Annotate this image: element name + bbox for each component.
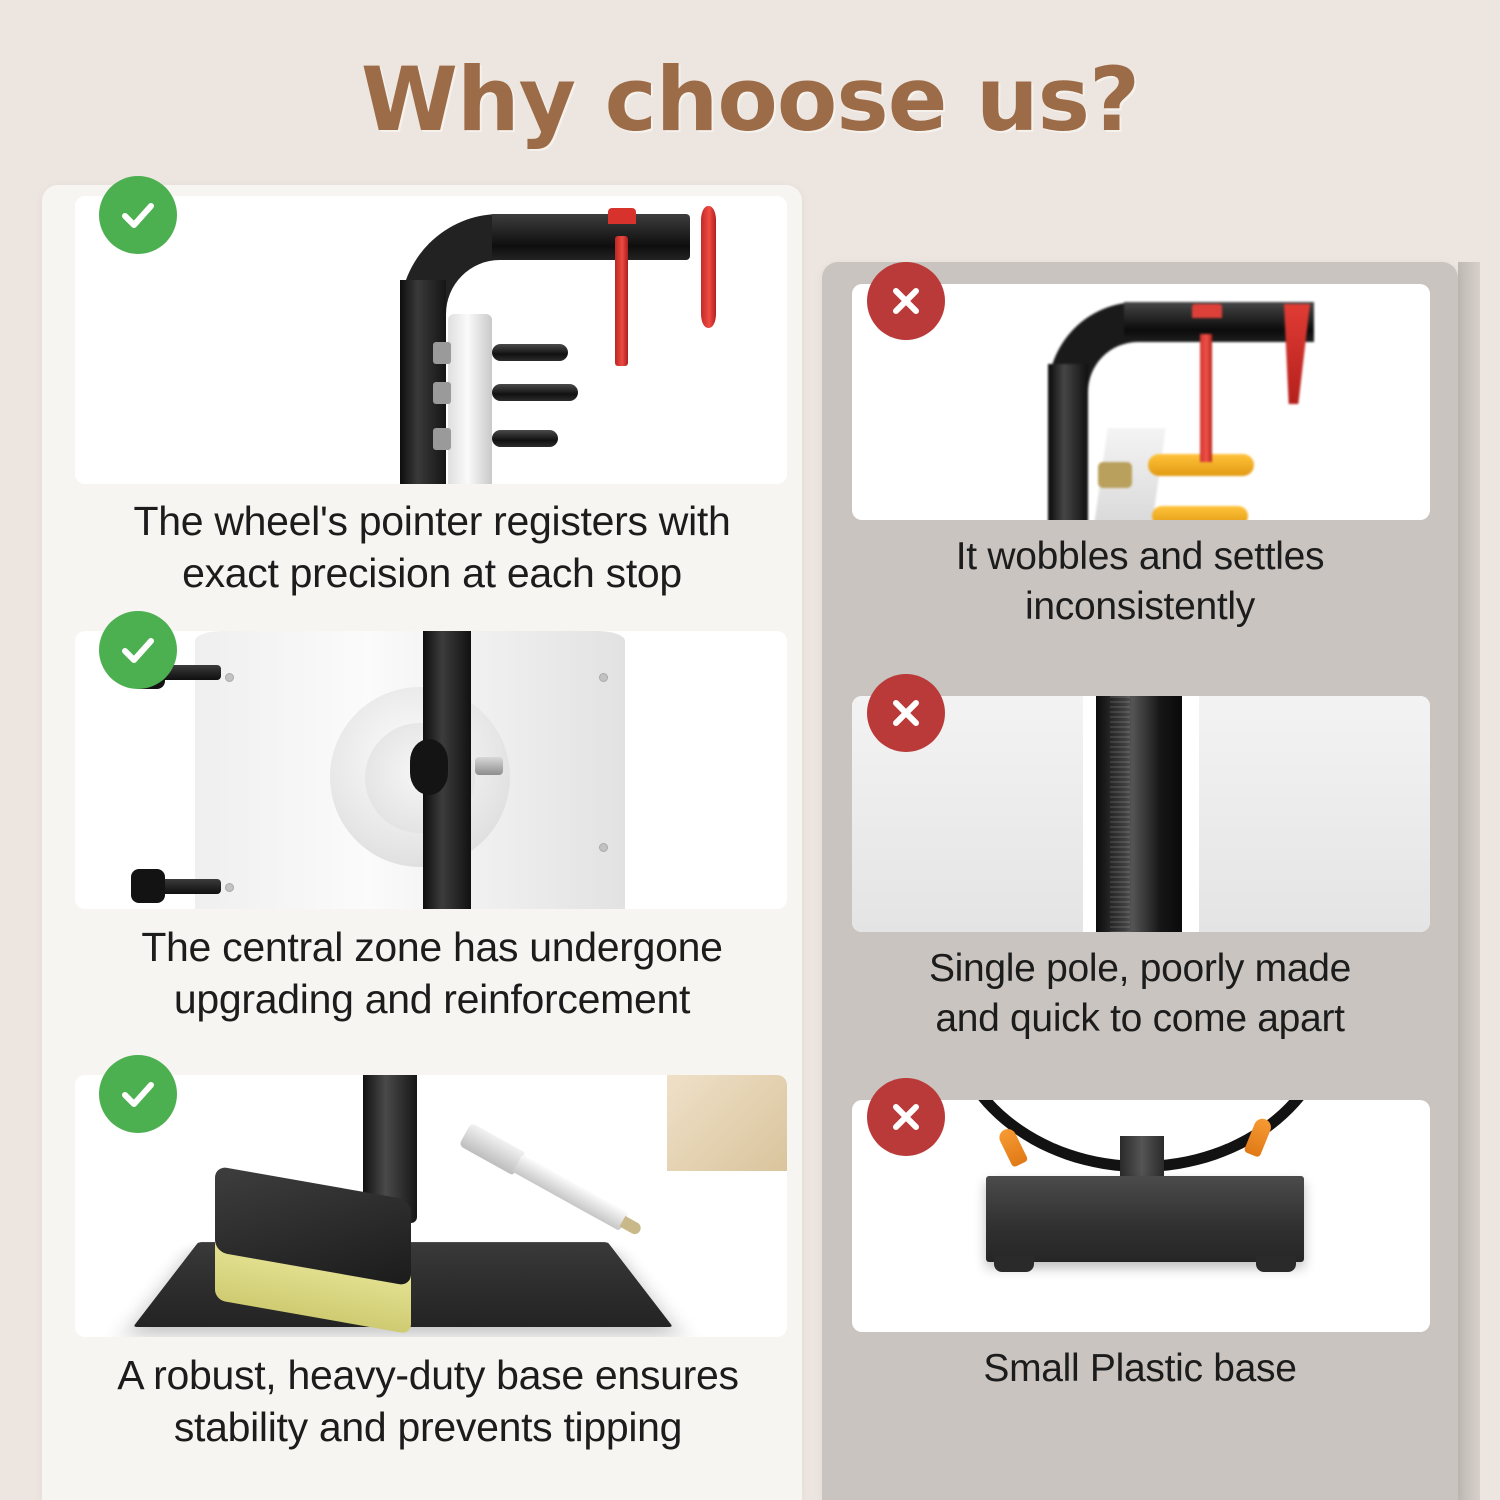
pin-rod-shape	[492, 430, 558, 447]
check-circle-icon	[99, 176, 177, 254]
con-item-3: Small Plastic base	[822, 1086, 1458, 1486]
pin-rod-shape	[492, 344, 568, 361]
con-caption-3: Small Plastic base	[832, 1344, 1448, 1394]
red-pointer-stem-shape	[615, 236, 628, 366]
x-circle-icon	[867, 674, 945, 752]
red-pointer-flag-shape	[701, 206, 716, 328]
page-title: Why choose us?	[0, 48, 1500, 151]
bolt-shape	[433, 342, 451, 364]
pro-item-2: The central zone has undergone upgrading…	[42, 623, 802, 1045]
pro-caption-3: A robust, heavy-duty base ensures stabil…	[54, 1349, 802, 1454]
heavy-duty-base-illustration	[75, 1075, 787, 1337]
x-circle-icon	[867, 262, 945, 340]
red-cap-shape	[608, 208, 636, 224]
white-bracket-plate-shape	[448, 314, 492, 484]
cons-panel: It wobbles and settles inconsistently Si…	[822, 262, 1458, 1500]
knob-stem-shape	[161, 879, 221, 894]
wheel-hub-illustration	[75, 631, 787, 909]
pro-caption-1: The wheel's pointer registers with exact…	[62, 495, 802, 600]
red-cap-shape	[1192, 304, 1222, 318]
pointer-bracket-illustration	[75, 196, 787, 484]
rivet-shape	[599, 673, 608, 682]
check-circle-icon	[99, 1055, 177, 1133]
clamp-shape	[1098, 462, 1132, 488]
rivet-shape	[599, 843, 608, 852]
page-header: Why choose us?	[0, 48, 1500, 151]
locking-screw-shape	[475, 757, 503, 775]
center-boss-shape	[410, 739, 448, 795]
con-caption-2: Single pole, poorly made and quick to co…	[832, 944, 1448, 1044]
red-pointer-stem-shape	[1200, 334, 1212, 462]
pointer-bracket-closeup-image	[75, 196, 787, 484]
marker-pen-shape	[459, 1123, 647, 1243]
wood-table-corner-shape	[667, 1075, 787, 1171]
cons-panel-edge-shadow	[1458, 262, 1480, 1500]
con-item-2: Single pole, poorly made and quick to co…	[822, 682, 1458, 1082]
knob-shape	[131, 869, 165, 903]
pin-rod-shape	[492, 384, 578, 401]
black-single-pole-shape	[1096, 696, 1182, 932]
black-pole-shape	[1048, 364, 1088, 520]
base-foot-shape	[994, 1256, 1034, 1272]
wheel-hub-reinforcement-image	[75, 631, 787, 909]
pro-item-3: A robust, heavy-duty base ensures stabil…	[42, 1067, 802, 1500]
yellow-peg-shape	[1152, 506, 1248, 520]
check-circle-icon	[99, 611, 177, 689]
bolt-shape	[433, 428, 451, 450]
con-caption-1: It wobbles and settles inconsistently	[832, 532, 1448, 632]
bolt-shape	[433, 382, 451, 404]
pros-panel: The wheel's pointer registers with exact…	[42, 185, 802, 1500]
pro-item-1: The wheel's pointer registers with exact…	[42, 185, 802, 615]
con-item-1: It wobbles and settles inconsistently	[822, 262, 1458, 662]
background-panel-right-shape	[1199, 696, 1430, 932]
rivet-shape	[225, 673, 234, 682]
heavy-duty-base-image	[75, 1075, 787, 1337]
red-pointer-flag-shape	[1284, 304, 1310, 404]
rivet-shape	[225, 883, 234, 892]
pole-texture-shape	[1110, 696, 1130, 932]
plastic-base-plate-shape	[986, 1176, 1304, 1262]
base-foot-shape	[1256, 1256, 1296, 1272]
x-circle-icon	[867, 1078, 945, 1156]
pro-caption-2: The central zone has undergone upgrading…	[62, 921, 802, 1026]
